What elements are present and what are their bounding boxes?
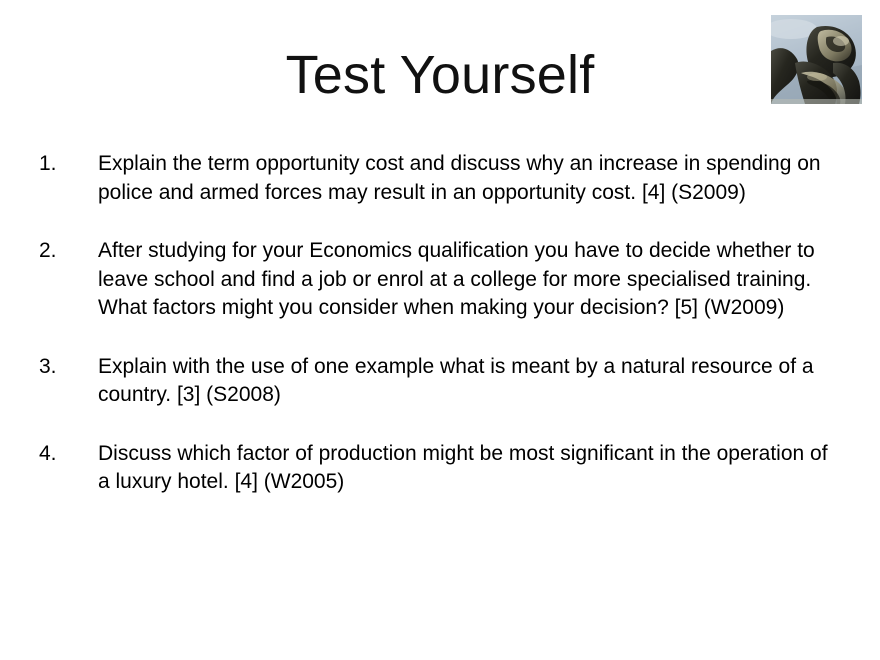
question-number: 1. [39,150,84,179]
list-item: 1. Explain the term opportunity cost and… [0,150,880,207]
question-number: 2. [39,237,84,266]
list-item: 3. Explain with the use of one example w… [0,353,880,410]
question-text: Discuss which factor of production might… [98,440,838,497]
list-item: 2. After studying for your Economics qua… [0,237,880,323]
page-title: Test Yourself [0,44,880,106]
question-number: 3. [39,353,84,382]
slide-canvas: Test Yourself [0,0,880,660]
question-text: After studying for your Economics qualif… [98,237,838,323]
list-item: 4. Discuss which factor of production mi… [0,440,880,497]
question-text: Explain with the use of one example what… [98,353,838,410]
question-text: Explain the term opportunity cost and di… [98,150,838,207]
question-list: 1. Explain the term opportunity cost and… [0,150,880,497]
the-thinker-statue-photo [771,15,862,104]
question-number: 4. [39,440,84,469]
